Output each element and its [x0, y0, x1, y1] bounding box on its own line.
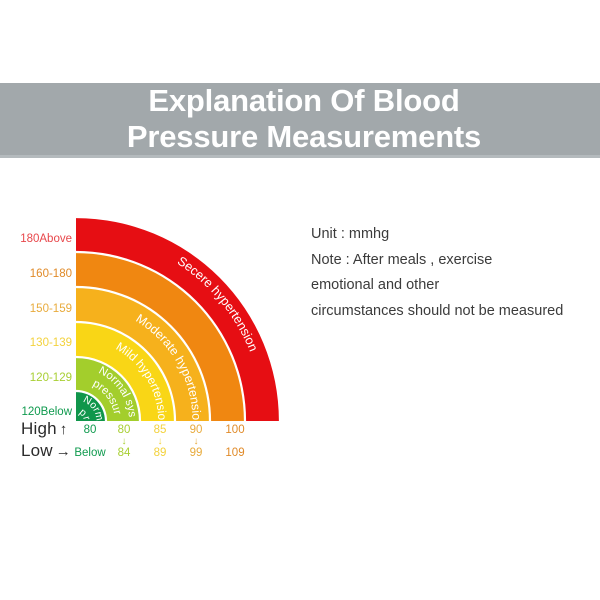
note-line: Unit : mmhg — [311, 222, 591, 248]
systolic-tick-label: 150-159 — [30, 303, 72, 315]
note-line: Note : After meals , exercise — [311, 248, 591, 274]
blood-pressure-fan-chart: Secere hypertensionModerate hypertension… — [0, 0, 300, 600]
systolic-tick-label: 160-180 — [30, 268, 72, 280]
systolic-tick-label: 180Above — [20, 233, 72, 245]
band-label: Mild hypertension — [0, 0, 169, 421]
diastolic-tick-group: 100 109 — [205, 424, 265, 460]
systolic-tick-label: 120-129 — [30, 372, 72, 384]
diastolic-tick-bottom: 109 — [205, 447, 265, 460]
page-root: Explanation Of Blood Pressure Measuremen… — [0, 0, 600, 600]
systolic-tick-label: 130-139 — [30, 337, 72, 349]
arrow-right-icon: → — [53, 443, 71, 460]
arrow-down-icon — [205, 437, 265, 447]
notes-block: Unit : mmhgNote : After meals , exercise… — [311, 222, 591, 324]
systolic-tick-label: 120Below — [21, 406, 72, 418]
axis-marker-low: Low→ — [21, 441, 71, 461]
note-line: circumstances should not be measured — [311, 299, 591, 325]
note-line: emotional and other — [311, 273, 591, 299]
band-label: Normal blood — [0, 0, 105, 422]
axis-low-label: Low — [21, 441, 53, 460]
arrow-up-icon: ↑ — [57, 421, 68, 438]
fan-bands-svg: Secere hypertensionModerate hypertension… — [0, 0, 300, 600]
axis-high-label: High — [21, 419, 57, 438]
axis-marker-high: High↑ — [21, 419, 67, 439]
